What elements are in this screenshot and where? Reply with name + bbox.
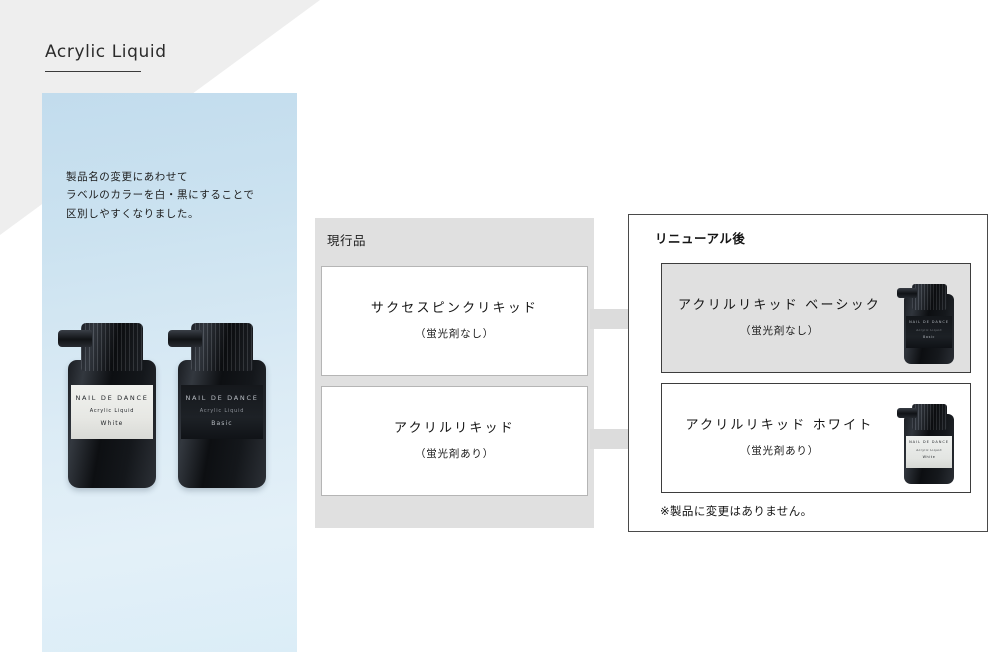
current-products-title: 現行品 — [327, 230, 366, 249]
renewal-products-panel: リニューアル後 アクリルリキッド ベーシック （蛍光剤なし） NAIL DE D… — [628, 214, 988, 532]
bottle-brand-text: NAIL DE DANCE — [181, 394, 263, 402]
title-underline-rule — [45, 71, 141, 72]
bottle-nozzle — [897, 288, 917, 298]
bottle-line-text: Acrylic Liquid — [71, 408, 153, 414]
current-product-box: サクセスピンクリキッド （蛍光剤なし） — [321, 266, 588, 376]
product-note: （蛍光剤なし） — [322, 326, 587, 341]
bottle-brand-text: NAIL DE DANCE — [71, 394, 153, 402]
current-product-box: アクリルリキッド （蛍光剤あり） — [321, 386, 588, 496]
product-name: サクセスピンクリキッド — [322, 301, 587, 317]
renewal-product-box: アクリルリキッド ベーシック （蛍光剤なし） NAIL DE DANCE Acr… — [661, 263, 971, 373]
photo-caption: 製品名の変更にあわせて ラベルのカラーを白・黒にすることで 区別しやすくなりまし… — [66, 168, 255, 223]
bottle-label-dark: NAIL DE DANCE Acrylic Liquid Basic — [906, 316, 952, 348]
photo-bottle-white: NAIL DE DANCE Acrylic Liquid White — [68, 323, 156, 488]
page-title: Acrylic Liquid — [45, 42, 275, 62]
bottle-nozzle — [897, 408, 917, 418]
page-title-block: Acrylic Liquid — [45, 42, 275, 72]
bottle-variant-text: White — [906, 455, 952, 459]
left-column: Acrylic Liquid 製品名の変更にあわせて ラベルのカラーを白・黒にす… — [0, 0, 310, 652]
bottle-line-text: Acrylic Liquid — [906, 448, 952, 452]
bottle-label-dark: NAIL DE DANCE Acrylic Liquid Basic — [181, 385, 263, 439]
product-note: （蛍光剤あり） — [322, 446, 587, 461]
product-name: アクリルリキッド ホワイト — [662, 418, 897, 434]
bottle-line-text: Acrylic Liquid — [906, 328, 952, 332]
product-name: アクリルリキッド — [322, 421, 587, 437]
bottle-variant-text: White — [71, 420, 153, 427]
current-product-text-block: サクセスピンクリキッド （蛍光剤なし） — [322, 301, 587, 341]
product-note: （蛍光剤あり） — [662, 443, 897, 458]
bottle-brand-text: NAIL DE DANCE — [906, 320, 952, 324]
product-thumbnail-white: NAIL DE DANCE Acrylic Liquid White — [900, 392, 958, 490]
photo-bottle-basic: NAIL DE DANCE Acrylic Liquid Basic — [178, 323, 266, 488]
renewal-product-text-block: アクリルリキッド ベーシック （蛍光剤なし） — [662, 298, 897, 338]
current-product-text-block: アクリルリキッド （蛍光剤あり） — [322, 421, 587, 461]
renewal-footnote: ※製品に変更はありません。 — [660, 503, 813, 519]
bottle-variant-text: Basic — [181, 420, 263, 427]
product-name: アクリルリキッド ベーシック — [662, 298, 897, 314]
bottle-label-white: NAIL DE DANCE Acrylic Liquid White — [906, 436, 952, 468]
bottle-label-white: NAIL DE DANCE Acrylic Liquid White — [71, 385, 153, 439]
current-products-panel: 現行品 サクセスピンクリキッド （蛍光剤なし） アクリルリキッド （蛍光剤あり） — [315, 218, 594, 528]
bottle-nozzle — [58, 330, 92, 347]
renewal-product-box: アクリルリキッド ホワイト （蛍光剤あり） NAIL DE DANCE Acry… — [661, 383, 971, 493]
bottle-cap — [912, 404, 947, 430]
bottle-brand-text: NAIL DE DANCE — [906, 440, 952, 444]
renewal-product-text-block: アクリルリキッド ホワイト （蛍光剤あり） — [662, 418, 897, 458]
bottle-nozzle — [168, 330, 202, 347]
bottle-variant-text: Basic — [906, 335, 952, 339]
bottle-line-text: Acrylic Liquid — [181, 408, 263, 414]
renewal-products-title: リニューアル後 — [655, 228, 745, 247]
product-thumbnail-basic: NAIL DE DANCE Acrylic Liquid Basic — [900, 272, 958, 370]
product-photo-panel: 製品名の変更にあわせて ラベルのカラーを白・黒にすることで 区別しやすくなりまし… — [42, 93, 297, 652]
bottle-cap — [912, 284, 947, 310]
photo-bottle-group: NAIL DE DANCE Acrylic Liquid White NAIL … — [68, 298, 274, 488]
product-note: （蛍光剤なし） — [662, 323, 897, 338]
